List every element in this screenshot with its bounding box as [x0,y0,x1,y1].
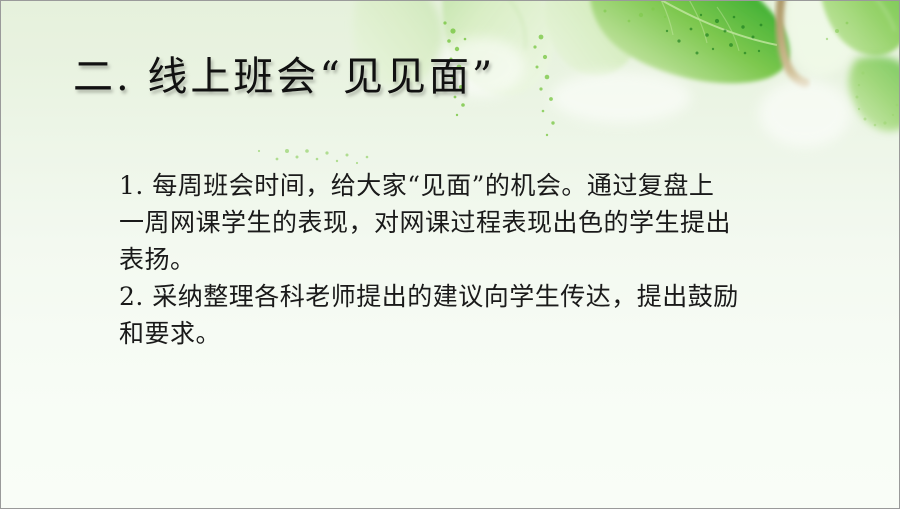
highlight-wash [437,37,851,147]
body-line: 2. 采纳整理各科老师提出的建议向学生传达，提出鼓励 [119,278,859,315]
body-line: 一周网课学生的表现，对网课过程表现出色的学生提出 [119,204,859,241]
body-line: 1. 每周班会时间，给大家“见面”的机会。通过复盘上 [119,167,859,204]
body-line: 表扬。 [119,241,859,278]
speckle-loop-right [856,71,899,126]
leaf-right-green [819,1,900,56]
leaf-pale-mid [545,1,643,76]
leaf-pale-right [788,1,861,76]
body-text: 1. 每周班会时间，给大家“见面”的机会。通过复盘上 一周网课学生的表现，对网课… [119,167,859,352]
stem-brown [780,1,805,83]
page-title: 二. 线上班会“见见面” [73,53,495,101]
body-line: 和要求。 [119,315,859,352]
leaf-right-lower [849,56,900,131]
presentation-slide: 二. 线上班会“见见面” 1. 每周班会时间，给大家“见面”的机会。通过复盘上 … [0,0,900,509]
leaf-large-green [590,1,791,83]
